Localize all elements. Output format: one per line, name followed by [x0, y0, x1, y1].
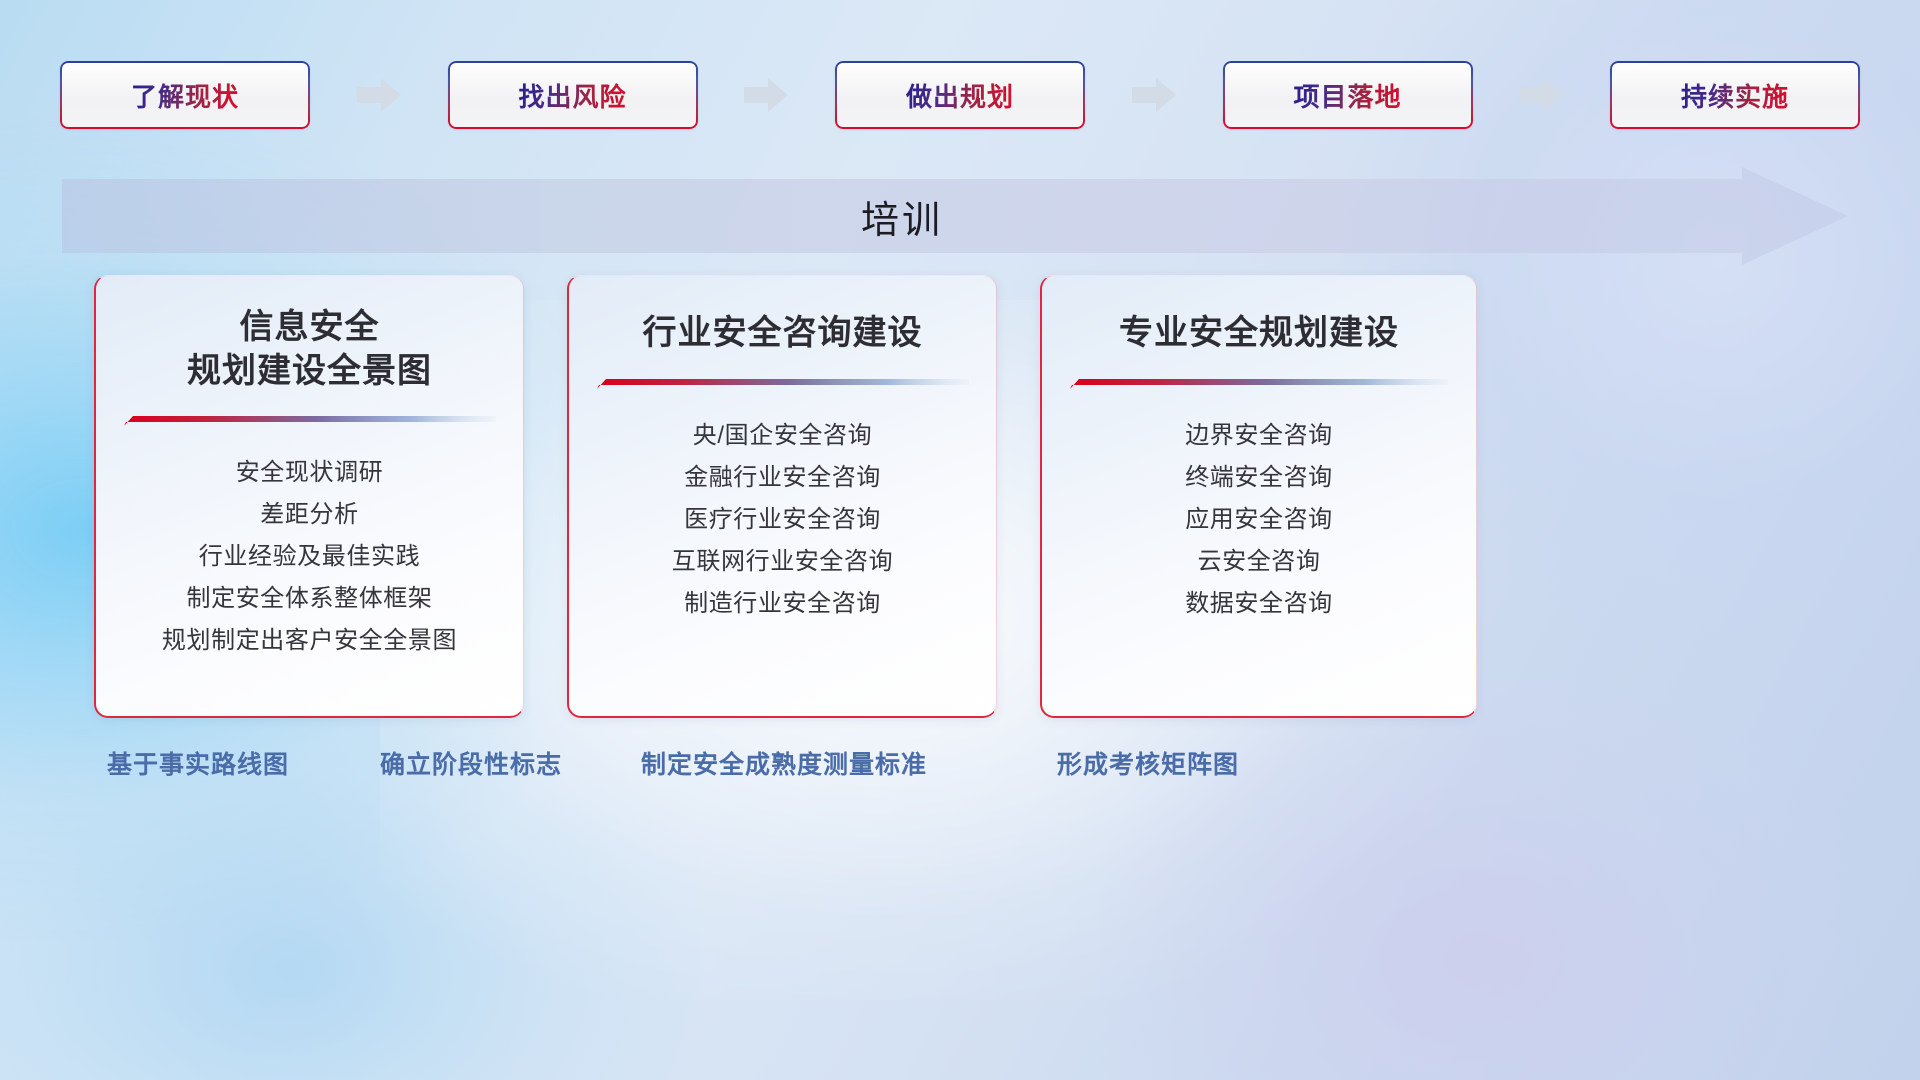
card-title-line: 信息安全	[110, 306, 509, 350]
list-item: 差距分析	[106, 494, 513, 536]
card-professional-security-planning[interactable]: 专业安全规划建设 边界安全咨询 终端安全咨询 应用安全咨询 云安全咨询 数据安全…	[1040, 275, 1477, 718]
arrow-right-icon	[740, 78, 792, 112]
list-item: 制定安全体系整体框架	[106, 578, 513, 620]
step-label: 了解现状	[131, 77, 239, 114]
step-box-4[interactable]: 项目落地	[1223, 61, 1473, 129]
step-box-5[interactable]: 持续实施	[1610, 61, 1860, 129]
card-divider-icon	[1070, 378, 1448, 389]
list-item: 规划制定出客户安全全景图	[106, 620, 513, 662]
footer-label-matrix: 形成考核矩阵图	[1057, 745, 1239, 781]
list-item: 安全现状调研	[106, 452, 513, 494]
list-item: 行业经验及最佳实践	[106, 536, 513, 578]
step-box-1[interactable]: 了解现状	[60, 61, 310, 129]
card-title-line: 规划建设全景图	[110, 350, 509, 394]
card-title: 专业安全规划建设	[1042, 312, 1476, 356]
arrow-right-icon	[353, 78, 405, 112]
card-item-list: 边界安全咨询 终端安全咨询 应用安全咨询 云安全咨询 数据安全咨询	[1042, 415, 1476, 625]
step-label: 项目落地	[1293, 77, 1401, 114]
card-title: 信息安全 规划建设全景图	[96, 306, 523, 393]
list-item: 制造行业安全咨询	[579, 583, 986, 625]
step-box-2[interactable]: 找出风险	[448, 61, 698, 129]
step-label: 持续实施	[1681, 77, 1789, 114]
list-item: 终端安全咨询	[1052, 457, 1466, 499]
training-band-label: 培训	[62, 167, 1742, 265]
list-item: 医疗行业安全咨询	[579, 499, 986, 541]
arrow-right-icon	[1515, 78, 1567, 112]
card-information-security-blueprint[interactable]: 信息安全 规划建设全景图 安全现状调研 差距分析 行业经验及最佳实践 制定安全体…	[94, 275, 524, 718]
step-box-3[interactable]: 做出规划	[835, 61, 1085, 129]
card-title-line: 行业安全咨询建设	[583, 312, 982, 356]
footer-label-maturity: 制定安全成熟度测量标准	[641, 745, 927, 781]
card-item-list: 安全现状调研 差距分析 行业经验及最佳实践 制定安全体系整体框架 规划制定出客户…	[96, 452, 523, 662]
arrow-right-icon	[1128, 78, 1180, 112]
step-label: 做出规划	[906, 77, 1014, 114]
card-title-line: 专业安全规划建设	[1056, 312, 1462, 356]
list-item: 数据安全咨询	[1052, 583, 1466, 625]
list-item: 边界安全咨询	[1052, 415, 1466, 457]
process-steps-row: 了解现状 找出风险 做出规划 项目落地 持续实施	[60, 59, 1860, 131]
card-item-list: 央/国企安全咨询 金融行业安全咨询 医疗行业安全咨询 互联网行业安全咨询 制造行…	[569, 415, 996, 625]
training-arrow-band: 培训	[62, 167, 1848, 265]
card-divider-icon	[124, 415, 496, 426]
footer-label-milestone: 确立阶段性标志	[380, 745, 562, 781]
list-item: 云安全咨询	[1052, 541, 1466, 583]
background-glow-lavender	[1100, 680, 1860, 1080]
footer-label-roadmap: 基于事实路线图	[107, 745, 289, 781]
card-divider-icon	[597, 378, 969, 389]
list-item: 应用安全咨询	[1052, 499, 1466, 541]
card-title: 行业安全咨询建设	[569, 312, 996, 356]
list-item: 央/国企安全咨询	[579, 415, 986, 457]
card-industry-security-consulting[interactable]: 行业安全咨询建设 央/国企安全咨询 金融行业安全咨询 医疗行业安全咨询 互联网行…	[567, 275, 997, 718]
list-item: 金融行业安全咨询	[579, 457, 986, 499]
list-item: 互联网行业安全咨询	[579, 541, 986, 583]
step-label: 找出风险	[518, 77, 626, 114]
